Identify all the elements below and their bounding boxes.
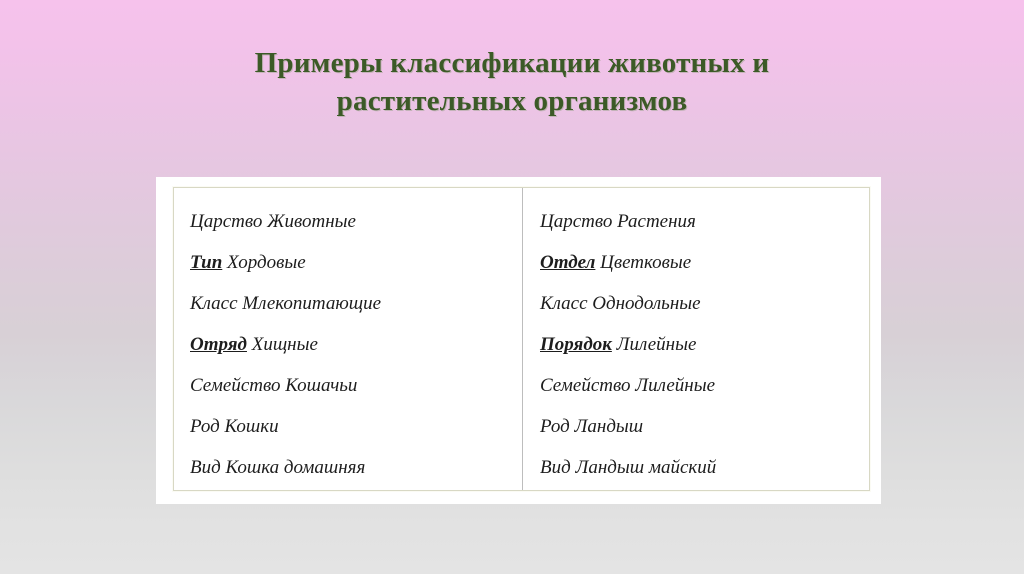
table-row: Вид Кошка домашняя: [190, 447, 522, 488]
taxon-value: Кошка домашняя: [225, 457, 365, 478]
rank-label: Отряд: [190, 334, 247, 355]
rank-label: Класс: [190, 293, 238, 314]
table-row: Тип Хордовые: [190, 242, 522, 283]
table-row: Класс Млекопитающие: [190, 283, 522, 324]
rank-label: Класс: [540, 293, 588, 314]
rank-label: Царство: [540, 211, 612, 232]
slide-canvas: Примеры классификации животных и растите…: [0, 0, 1024, 574]
table-column-animals: Царство Животные Тип Хордовые Класс Млек…: [174, 188, 523, 490]
taxon-value: Кошки: [225, 416, 279, 437]
table-row: Род Ландыш: [540, 406, 869, 447]
table-row: Отдел Цветковые: [540, 242, 869, 283]
taxon-value: Хищные: [252, 334, 318, 355]
page-title-line-1: Примеры классификации животных и: [112, 44, 912, 82]
taxon-value: Животные: [267, 211, 356, 232]
page-title: Примеры классификации животных и растите…: [112, 44, 912, 120]
rank-label: Вид: [540, 457, 571, 478]
table-row: Отряд Хищные: [190, 324, 522, 365]
rank-label: Род: [540, 416, 570, 437]
taxon-value: Млекопитающие: [242, 293, 381, 314]
taxon-value: Растения: [617, 211, 696, 232]
rank-label: Вид: [190, 457, 221, 478]
table-row: Царство Растения: [540, 201, 869, 242]
classification-table-frame: Царство Животные Тип Хордовые Класс Млек…: [156, 177, 881, 504]
classification-table: Царство Животные Тип Хордовые Класс Млек…: [174, 188, 869, 490]
table-row: Семейство Лилейные: [540, 365, 869, 406]
taxon-value: Однодольные: [592, 293, 700, 314]
rank-label: Тип: [190, 252, 222, 273]
table-row: Вид Ландыш майский: [540, 447, 869, 488]
table-column-plants: Царство Растения Отдел Цветковые Класс О…: [523, 188, 869, 490]
rank-label: Род: [190, 416, 220, 437]
rank-label: Порядок: [540, 334, 612, 355]
taxon-value: Ландыш: [575, 416, 644, 437]
taxon-value: Хордовые: [227, 252, 306, 273]
page-title-line-2: растительных организмов: [112, 82, 912, 120]
taxon-value: Ландыш майский: [575, 457, 716, 478]
rank-label: Семейство: [190, 375, 280, 396]
rank-label: Семейство: [540, 375, 630, 396]
taxon-value: Цветковые: [600, 252, 691, 273]
table-row: Род Кошки: [190, 406, 522, 447]
taxon-value: Лилейные: [617, 334, 697, 355]
classification-table-border: Царство Животные Тип Хордовые Класс Млек…: [173, 187, 870, 491]
table-row: Семейство Кошачьи: [190, 365, 522, 406]
table-row: Порядок Лилейные: [540, 324, 869, 365]
table-row: Царство Животные: [190, 201, 522, 242]
taxon-value: Кошачьи: [285, 375, 357, 396]
rank-label: Отдел: [540, 252, 595, 273]
rank-label: Царство: [190, 211, 262, 232]
taxon-value: Лилейные: [635, 375, 715, 396]
table-row: Класс Однодольные: [540, 283, 869, 324]
